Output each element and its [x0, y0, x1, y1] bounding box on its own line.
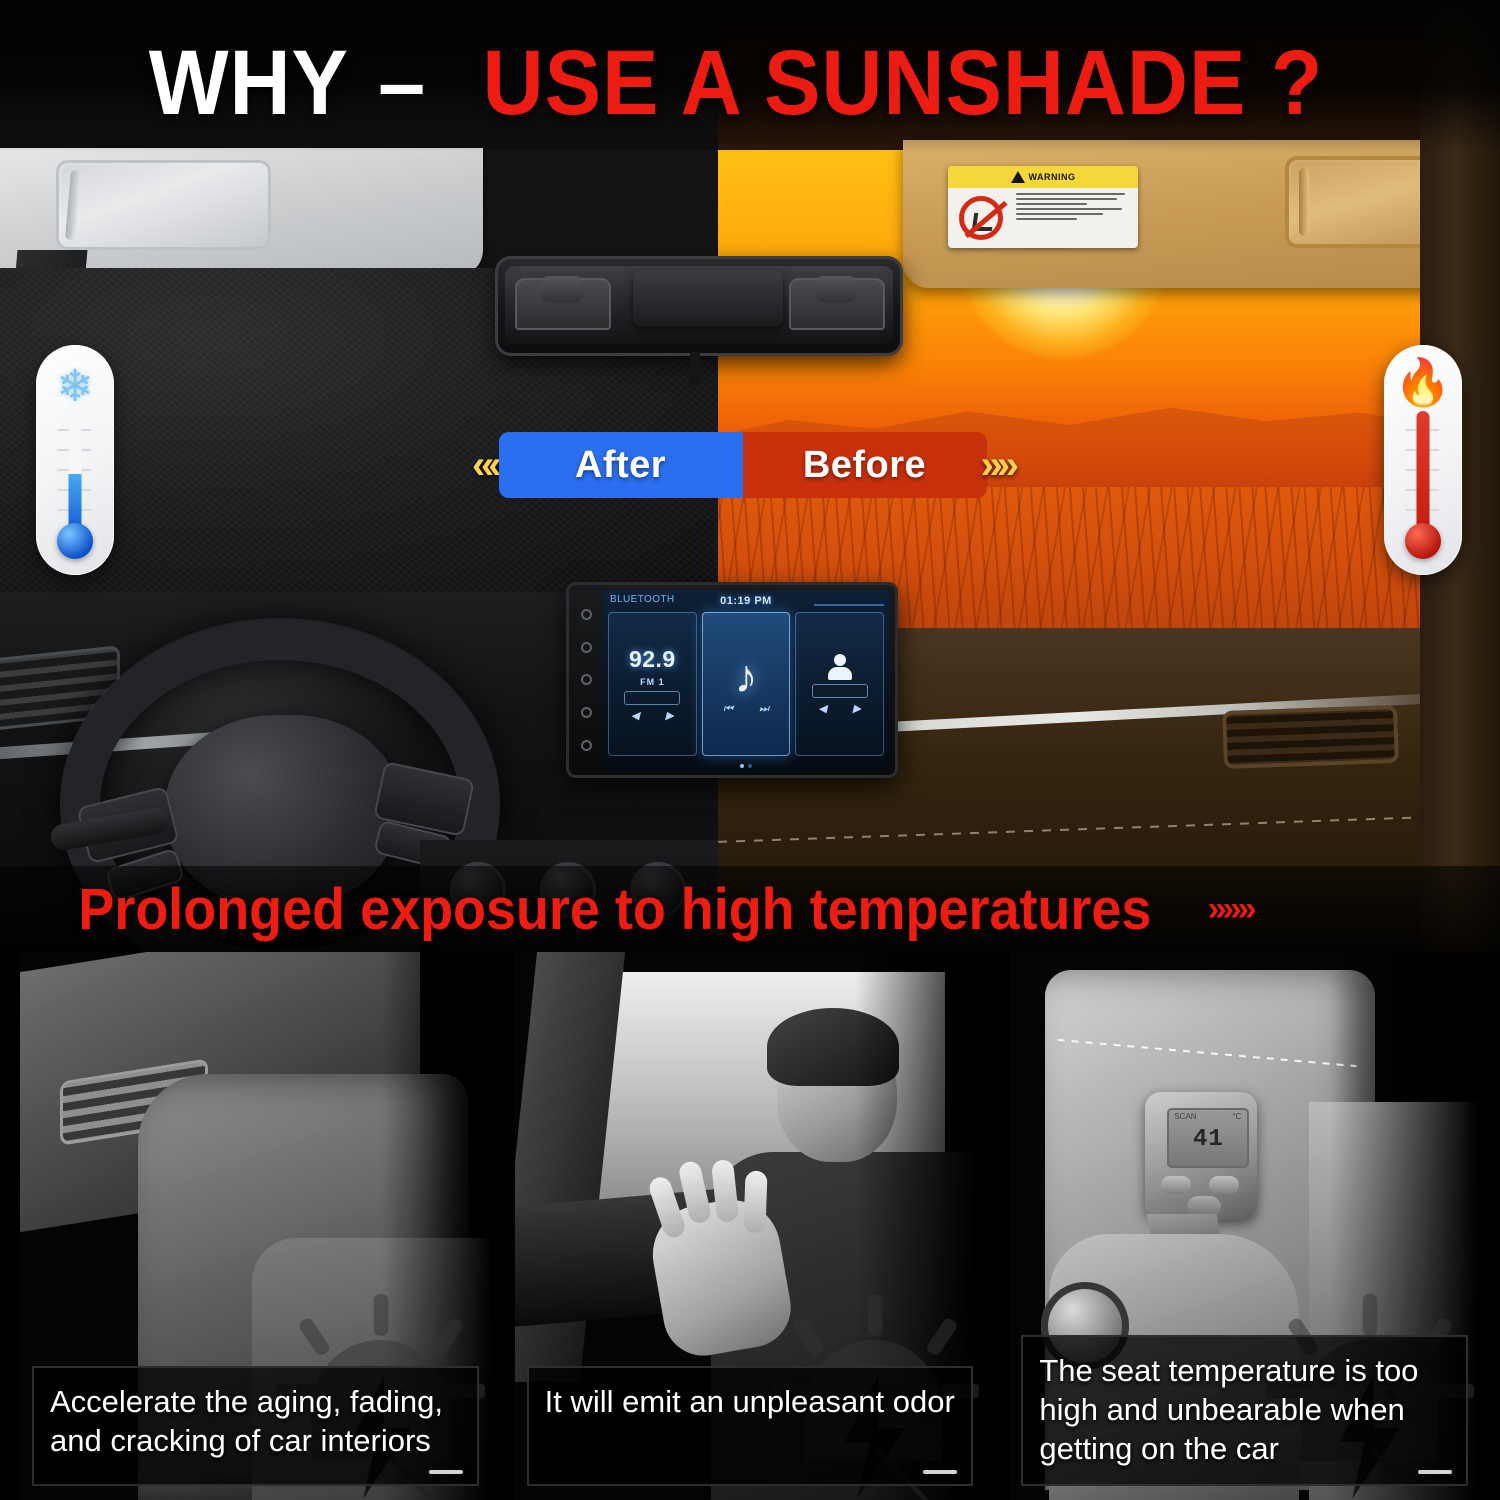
warning-label-body [948, 188, 1138, 248]
consequences-panel-row: Accelerate the aging, fading, and cracki… [0, 952, 1500, 1500]
thermometer-gun-body: SCAN °C 41 [1145, 1092, 1257, 1220]
media-forward-icon[interactable]: ⏭ [759, 703, 769, 716]
panel-interior-aging: Accelerate the aging, fading, and cracki… [20, 952, 491, 1500]
thermometer-gun-button-right[interactable] [1209, 1176, 1239, 1194]
radio-band: FM 1 [640, 677, 665, 687]
infotainment-screen[interactable]: BLUETOOTH 01:19 PM 92.9 FM 1 ◀ ▶ ♪ [602, 590, 890, 770]
status-bar: 01:19 PM [602, 592, 890, 610]
warning-text-lines [1014, 188, 1138, 248]
tune-prev-icon[interactable]: ◀ [631, 709, 639, 722]
banner-chevrons-icon: »»» [1208, 890, 1253, 929]
radio-card[interactable]: 92.9 FM 1 ◀ ▶ [608, 612, 697, 756]
warning-label-header: WARNING [948, 166, 1138, 188]
title-word-why: WHY [149, 31, 349, 136]
thermometer-gun-display: SCAN °C 41 [1167, 1108, 1249, 1168]
warning-triangle-icon [1011, 171, 1025, 183]
chevron-right-icon: »» [981, 443, 1014, 488]
panel-seat-temperature: SCAN °C 41 [1009, 952, 1480, 1500]
rear-headrest-right [815, 276, 857, 302]
no-rear-facing-child-seat-icon [959, 196, 1003, 240]
media-transport-controls[interactable]: ⏮ ⏭ [723, 703, 769, 716]
thermometer-tube-cold [69, 417, 82, 527]
page-indicator-dots [740, 764, 752, 768]
panel3-caption-text: The seat temperature is too high and unb… [1039, 1353, 1418, 1466]
contact-prev-icon[interactable]: ◀ [818, 702, 826, 715]
cold-thermometer: ❄ [36, 345, 114, 575]
panel2-caption-box: It will emit an unpleasant odor [527, 1366, 974, 1486]
banner-text: Prolonged exposure to high temperatures [78, 876, 1151, 943]
thermometer-tube-hot [1417, 411, 1430, 529]
tune-next-icon[interactable]: ▶ [665, 709, 673, 722]
hero-comparison-section: WARNING [0, 0, 1500, 952]
snowflake-icon: ❄ [57, 365, 94, 409]
thermometer-bulb-cold [57, 523, 93, 559]
head-unit-button-power[interactable] [581, 609, 592, 620]
screen-card-row: 92.9 FM 1 ◀ ▶ ♪ ⏮ ⏭ [608, 612, 884, 756]
panel1-caption-box: Accelerate the aging, fading, and cracki… [32, 1366, 479, 1486]
rearview-mirror-glass [505, 266, 893, 344]
head-unit-button-volume[interactable] [581, 707, 592, 718]
section-banner: Prolonged exposure to high temperatures … [0, 866, 1500, 952]
dashboard-stitching [718, 815, 1458, 843]
thermometer-gun-button-left[interactable] [1161, 1176, 1191, 1194]
panel2-caption-dash [923, 1470, 957, 1474]
warning-pictogram [948, 188, 1014, 248]
panel1-caption-text: Accelerate the aging, fading, and cracki… [50, 1384, 443, 1458]
page-title: WHY – USE A SUNSHADE ? [0, 28, 1500, 138]
title-phrase-red: USE A SUNSHADE ? [482, 31, 1323, 136]
status-bar-divider [814, 604, 884, 606]
panel3-caption-dash [1418, 1470, 1452, 1474]
head-unit-button-home[interactable] [581, 642, 592, 653]
before-badge[interactable]: Before [743, 432, 987, 498]
phone-card[interactable]: ◀ ▶ [795, 612, 884, 756]
thermometer-gun-unit: °C [1232, 1112, 1241, 1121]
radio-frequency: 92.9 [629, 646, 676, 673]
clock-display: 01:19 PM [720, 595, 772, 607]
mirror-mount-stem [690, 352, 700, 386]
user-icon [827, 654, 853, 680]
head-unit-button-back[interactable] [581, 740, 592, 751]
dashcam-module [633, 270, 783, 326]
contact-next-icon[interactable]: ▶ [853, 702, 861, 715]
air-vent-right [1222, 705, 1399, 769]
panel-unpleasant-odor: It will emit an unpleasant odor [515, 952, 986, 1500]
rearview-mirror [495, 256, 903, 356]
before-after-toggle[interactable]: «« After Before »» [472, 432, 1013, 498]
head-unit-button-menu[interactable] [581, 674, 592, 685]
sun-visor-right: WARNING [903, 140, 1500, 288]
title-dash: – [378, 31, 426, 136]
after-badge[interactable]: After [499, 432, 743, 498]
rear-seat-left [515, 278, 611, 330]
infotainment-head-unit[interactable]: BLUETOOTH 01:19 PM 92.9 FM 1 ◀ ▶ ♪ [566, 582, 898, 778]
visor-vanity-mirror-left [56, 160, 271, 250]
radio-preset-pill[interactable] [624, 691, 680, 705]
thermometer-gun-mode-label: SCAN [1174, 1112, 1196, 1121]
radio-tune-controls[interactable]: ◀ ▶ [631, 709, 674, 722]
airbag-warning-label: WARNING [948, 166, 1138, 248]
head-unit-side-buttons[interactable] [576, 598, 596, 762]
thermometer-gun-reading: 41 [1167, 1126, 1249, 1153]
panel1-caption-dash [429, 1470, 463, 1474]
media-rewind-icon[interactable]: ⏮ [723, 703, 733, 716]
contact-scroll-controls[interactable]: ◀ ▶ [818, 702, 861, 715]
hot-thermometer: 🔥 [1384, 345, 1462, 575]
rear-seat-right [789, 278, 885, 330]
media-card[interactable]: ♪ ⏮ ⏭ [702, 612, 791, 756]
thermometer-bulb-hot [1405, 523, 1441, 559]
rear-headrest-left [541, 276, 583, 302]
contact-pill[interactable] [812, 684, 868, 698]
music-note-icon: ♪ [735, 653, 758, 699]
panel3-caption-box: The seat temperature is too high and unb… [1021, 1335, 1468, 1486]
panel2-caption-text: It will emit an unpleasant odor [545, 1384, 955, 1419]
child-seat-glyph [972, 213, 995, 231]
flame-icon: 🔥 [1394, 359, 1451, 405]
warning-heading: WARNING [1029, 172, 1076, 182]
